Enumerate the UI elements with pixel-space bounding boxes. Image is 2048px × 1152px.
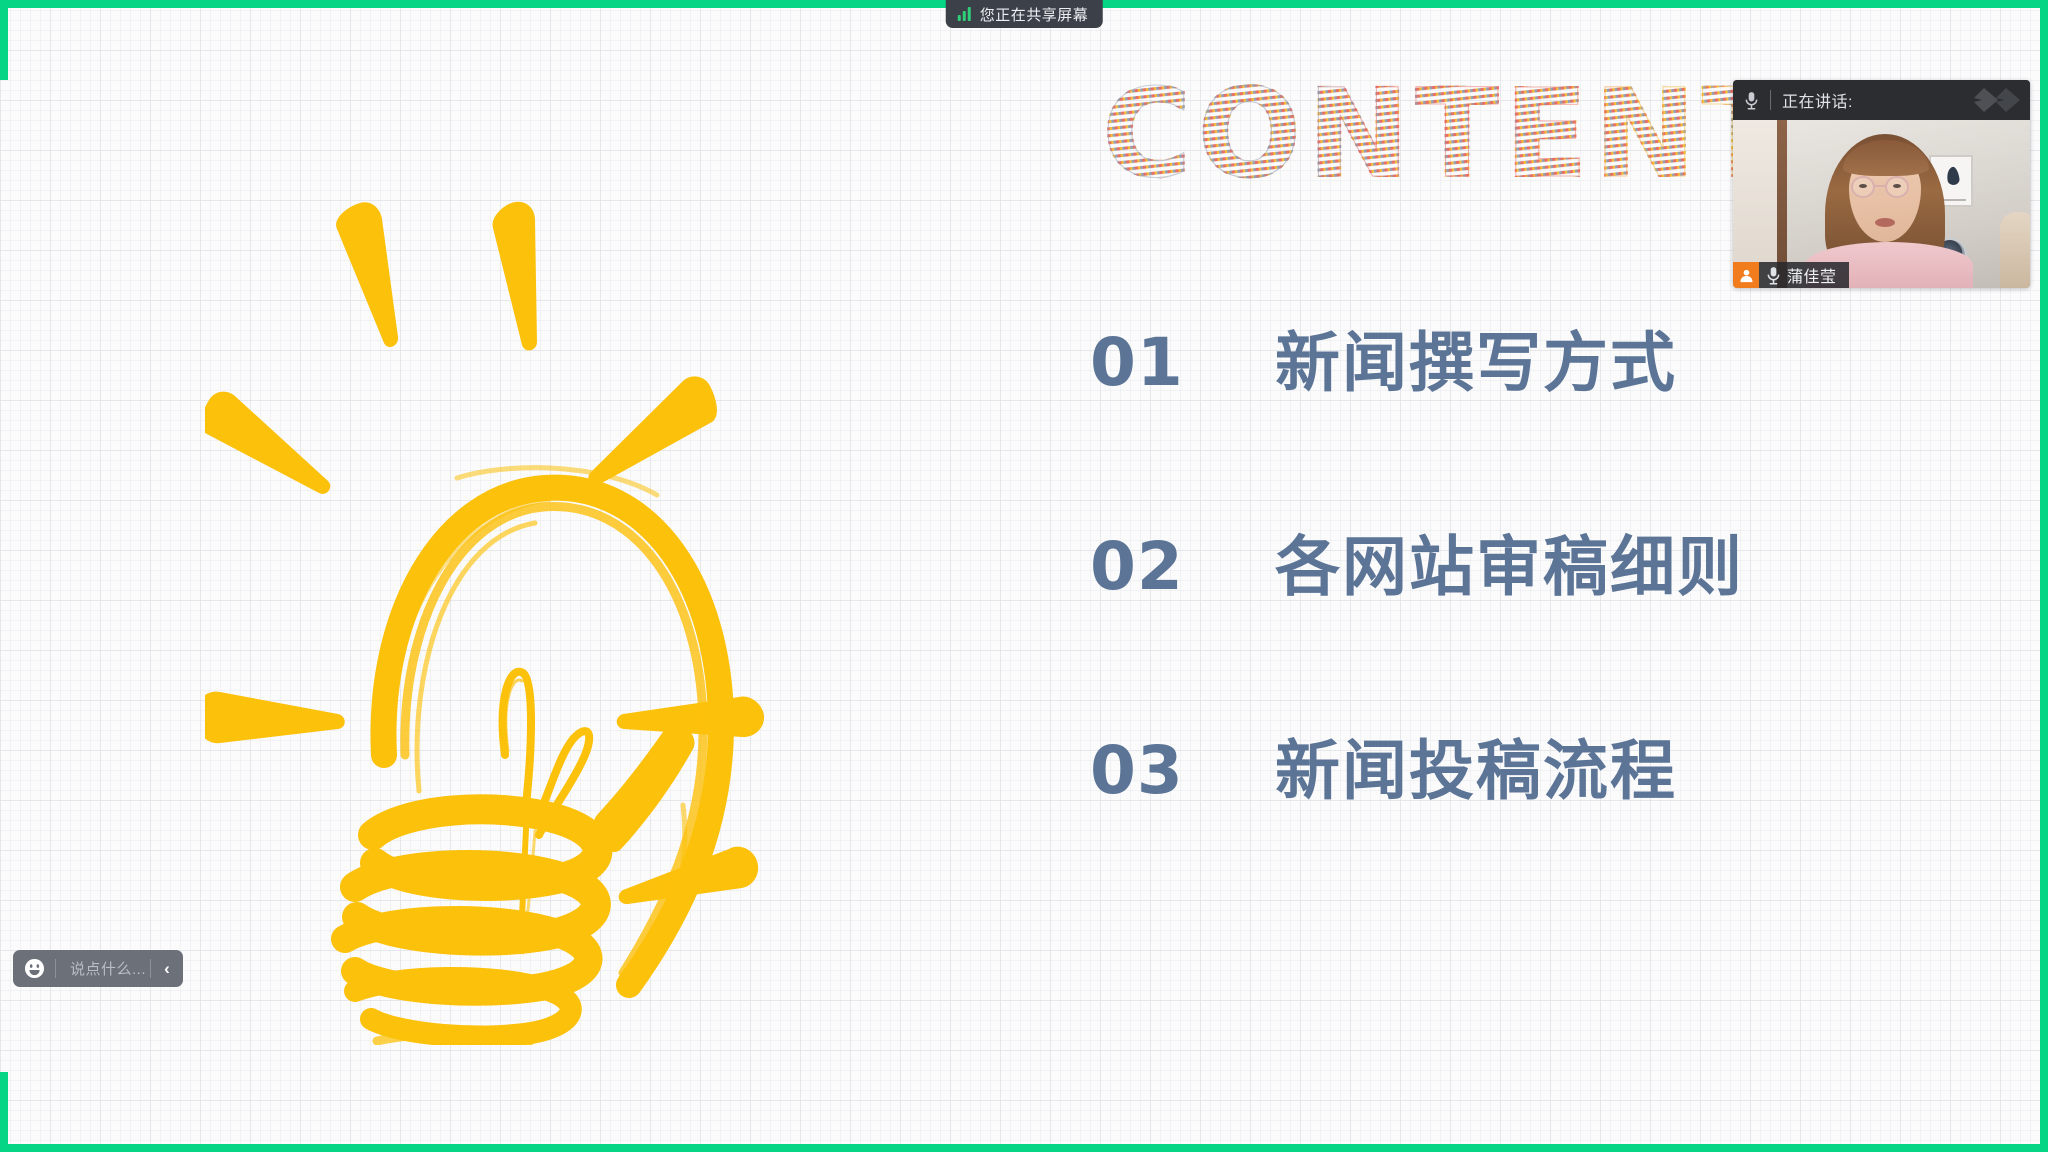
video-scene-plush-toy bbox=[2000, 212, 2030, 288]
microphone-icon bbox=[1744, 91, 1759, 110]
person-icon bbox=[1733, 262, 1759, 288]
sharing-banner-label: 您正在共享屏幕 bbox=[980, 4, 1089, 25]
agenda-number: 02 bbox=[1090, 528, 1275, 605]
agenda-item-03: 03 新闻投稿流程 bbox=[1090, 718, 1890, 812]
collapse-chevrons-icon[interactable] bbox=[1972, 86, 2024, 114]
share-border-top-left bbox=[0, 0, 368, 8]
share-border-left-top bbox=[0, 0, 8, 80]
chat-input-bar[interactable]: 说点什么... ‹ bbox=[13, 950, 183, 987]
agenda-label: 新闻撰写方式 bbox=[1275, 310, 1677, 404]
agenda-list: 01 新闻撰写方式 02 各网站审稿细则 03 新闻投稿流程 bbox=[1090, 310, 1890, 812]
share-border-bottom-left bbox=[0, 1144, 368, 1152]
participant-name-strip: 蒲佳莹 bbox=[1759, 262, 1849, 288]
agenda-item-02: 02 各网站审稿细则 bbox=[1090, 514, 1890, 608]
participant-video-panel[interactable]: 正在讲话: bbox=[1733, 80, 2030, 288]
signal-bars-icon bbox=[958, 7, 971, 21]
share-border-right bbox=[2040, 0, 2048, 1152]
share-border-bottom-right bbox=[358, 1144, 2048, 1152]
share-border-left-bottom bbox=[0, 1072, 8, 1152]
agenda-item-01: 01 新闻撰写方式 bbox=[1090, 310, 1890, 404]
lightbulb-icon bbox=[205, 195, 885, 1045]
slide-title-content: CONTENT CONTENT bbox=[1098, 72, 1798, 197]
video-panel-header: 正在讲话: bbox=[1733, 80, 2030, 120]
agenda-label: 各网站审稿细则 bbox=[1275, 514, 1744, 608]
agenda-number: 03 bbox=[1090, 732, 1275, 809]
person-mouth bbox=[1875, 218, 1895, 227]
participant-name-bar: 蒲佳莹 bbox=[1733, 262, 1849, 288]
eyeglasses-right-lens bbox=[1885, 176, 1909, 198]
swan-artwork-icon bbox=[1946, 166, 1960, 185]
participant-name: 蒲佳莹 bbox=[1787, 263, 1837, 287]
eyeglasses-left-lens bbox=[1851, 176, 1875, 198]
video-panel-title: 正在讲话: bbox=[1782, 88, 1853, 112]
microphone-icon bbox=[1766, 266, 1781, 285]
header-divider bbox=[1770, 90, 1771, 110]
agenda-label: 新闻投稿流程 bbox=[1275, 718, 1677, 812]
agenda-number: 01 bbox=[1090, 324, 1275, 401]
chat-input-placeholder[interactable]: 说点什么... bbox=[56, 958, 150, 979]
eyeglasses-bridge bbox=[1875, 185, 1885, 187]
share-border-top-right bbox=[358, 0, 2048, 8]
participant-video-feed[interactable]: 蒲佳莹 bbox=[1733, 120, 2030, 288]
smiley-icon[interactable] bbox=[13, 958, 55, 979]
screen-sharing-banner[interactable]: 您正在共享屏幕 bbox=[946, 0, 1103, 28]
svg-text:CONTENT: CONTENT bbox=[1102, 72, 1791, 197]
chevron-left-icon[interactable]: ‹ bbox=[151, 959, 183, 979]
